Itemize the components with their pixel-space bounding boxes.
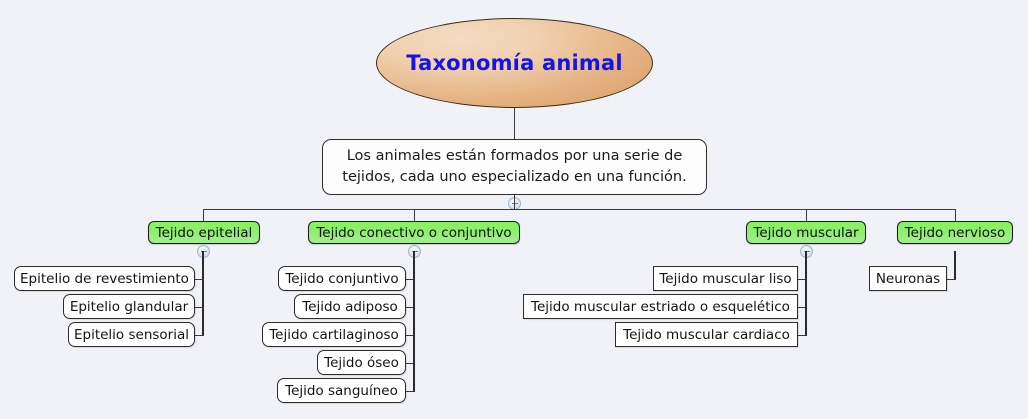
connector-stub-epitelial-3 [194, 335, 203, 336]
leaf-node-label: Tejido óseo [324, 355, 399, 371]
leaf-node-tejido-sanguineo[interactable]: Tejido sanguíneo [277, 378, 406, 403]
connector-root-to-subtitle [514, 108, 515, 139]
leaf-node-label: Tejido sanguíneo [285, 383, 398, 399]
leaf-node-label: Neuronas [876, 271, 940, 287]
subtitle-label: Los animales están formados por una seri… [342, 146, 686, 187]
category-node-label: Tejido nervioso [905, 225, 1006, 241]
category-node-label: Tejido muscular [753, 225, 858, 241]
subtitle-node[interactable]: Los animales están formados por una seri… [322, 139, 707, 195]
leaf-node-label: Tejido muscular liso [659, 271, 791, 287]
root-node-taxonomia-animal[interactable]: Taxonomía animal [376, 18, 653, 108]
leaf-node-epitelio-de-revestimiento[interactable]: Epitelio de revestimiento [14, 266, 195, 291]
category-node-tejido-nervioso[interactable]: Tejido nervioso [897, 221, 1013, 244]
connector-subtitle-to-bus [514, 195, 515, 209]
connector-stub-conectivo-1 [405, 279, 414, 280]
connector-stub-nervioso-1 [946, 279, 955, 280]
connector-stub-conectivo-2 [405, 307, 414, 308]
subtitle-line-2: tejidos, cada uno especializado en una f… [342, 169, 686, 185]
connector-stub-conectivo-5 [405, 391, 414, 392]
mindmap-canvas: Taxonomía animal Los animales están form… [0, 0, 1028, 419]
connector-spine-nervioso [954, 251, 956, 280]
leaf-node-tejido-muscular-estriado[interactable]: Tejido muscular estriado o esquelético [523, 294, 798, 319]
connector-stub-epitelial-2 [194, 307, 203, 308]
connector-stub-conectivo-4 [405, 363, 414, 364]
category-node-tejido-conectivo[interactable]: Tejido conectivo o conjuntivo [308, 221, 520, 244]
connector-stub-conectivo-3 [405, 335, 414, 336]
connector-bus-drop-nervioso [955, 209, 956, 221]
leaf-node-tejido-muscular-cardiaco[interactable]: Tejido muscular cardiaco [615, 322, 798, 347]
leaf-node-tejido-oseo[interactable]: Tejido óseo [317, 350, 406, 375]
connector-stub-muscular-2 [797, 307, 806, 308]
leaf-node-label: Epitelio de revestimiento [20, 271, 189, 287]
subtitle-line-1: Los animales están formados por una seri… [347, 148, 683, 164]
leaf-node-tejido-conjuntivo[interactable]: Tejido conjuntivo [278, 266, 406, 291]
root-node-label: Taxonomía animal [406, 51, 622, 75]
connector-spine-epitelial [202, 251, 204, 336]
leaf-node-tejido-adiposo[interactable]: Tejido adiposo [294, 294, 406, 319]
connector-main-bus [203, 209, 956, 210]
leaf-node-tejido-muscular-liso[interactable]: Tejido muscular liso [653, 266, 798, 291]
leaf-node-tejido-cartilaginoso[interactable]: Tejido cartilaginoso [262, 322, 406, 347]
connector-bus-drop-muscular [806, 209, 807, 221]
connector-stub-epitelial-1 [194, 279, 203, 280]
leaf-node-label: Tejido conjuntivo [285, 271, 398, 287]
leaf-node-epitelio-glandular[interactable]: Epitelio glandular [63, 294, 195, 319]
leaf-node-label: Tejido cartilaginoso [269, 327, 399, 343]
leaf-node-epitelio-sensorial[interactable]: Epitelio sensorial [68, 322, 195, 347]
leaf-node-label: Tejido muscular estriado o esquelético [531, 299, 790, 315]
leaf-node-label: Epitelio glandular [70, 299, 188, 315]
category-node-label: Tejido conectivo o conjuntivo [316, 225, 511, 241]
category-node-label: Tejido epitelial [156, 225, 253, 241]
connector-bus-drop-conectivo [414, 209, 415, 221]
leaf-node-label: Epitelio sensorial [74, 327, 189, 343]
category-node-tejido-muscular[interactable]: Tejido muscular [746, 221, 866, 244]
connector-spine-conectivo [413, 251, 415, 392]
category-node-tejido-epitelial[interactable]: Tejido epitelial [148, 221, 260, 244]
leaf-node-label: Tejido adiposo [302, 299, 398, 315]
connector-stub-muscular-1 [797, 279, 806, 280]
leaf-node-neuronas[interactable]: Neuronas [869, 266, 947, 291]
connector-spine-muscular [805, 251, 807, 336]
connector-stub-muscular-3 [797, 335, 806, 336]
connector-bus-drop-epitelial [203, 209, 204, 221]
leaf-node-label: Tejido muscular cardiaco [623, 327, 790, 343]
